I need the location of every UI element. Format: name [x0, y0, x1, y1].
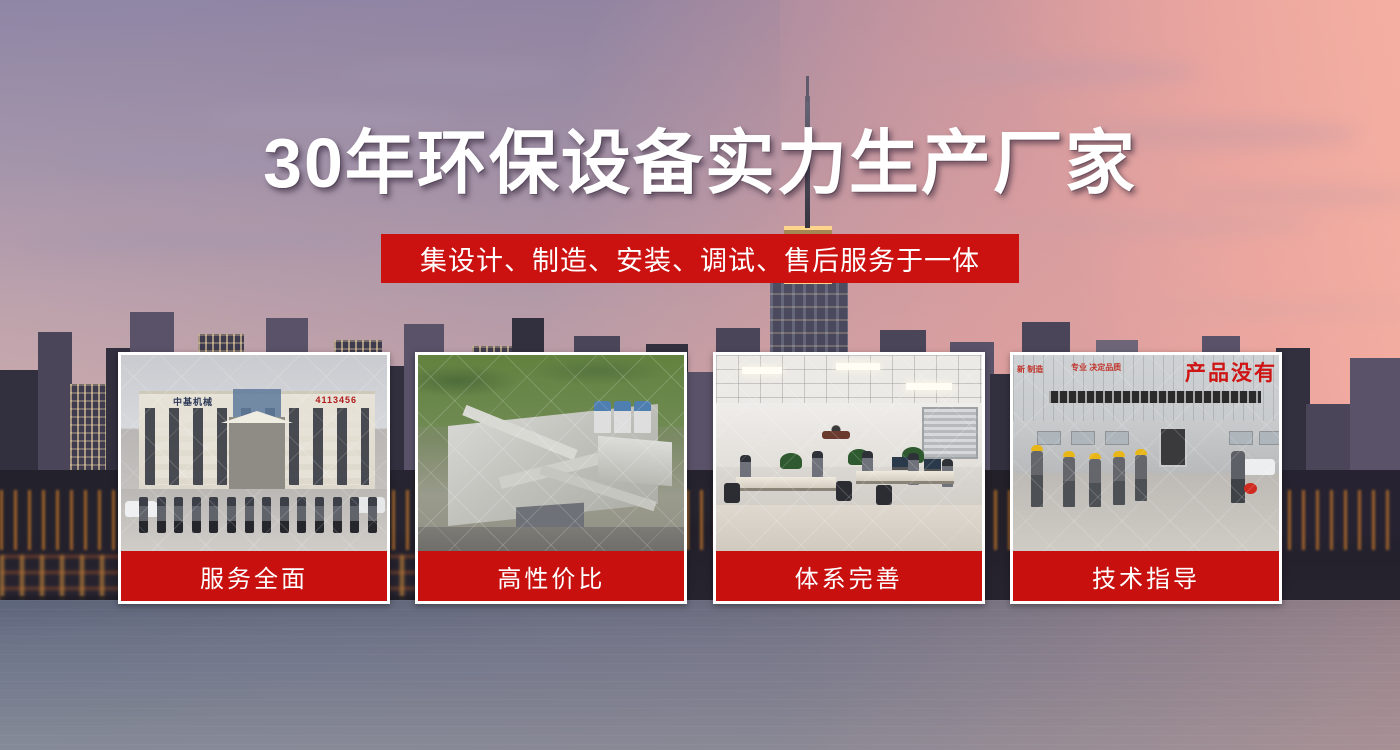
promotional-banner: 30年环保设备实力生产厂家 集设计、制造、安装、调试、售后服务于一体 中基机械 … — [0, 0, 1400, 750]
feature-card[interactable]: 中基机械 4113456 服务全面 — [118, 352, 390, 604]
feature-card[interactable]: 体系完善 — [713, 352, 985, 604]
card-photo-office — [716, 355, 982, 557]
building-phone: 4113456 — [315, 395, 357, 405]
card-caption: 高性价比 — [418, 551, 684, 601]
card-caption: 体系完善 — [716, 551, 982, 601]
cloud — [980, 215, 1320, 235]
subtitle-text: 集设计、制造、安装、调试、售后服务于一体 — [420, 239, 980, 278]
card-caption: 服务全面 — [121, 551, 387, 601]
building-signage: 中基机械 — [173, 395, 213, 408]
cloud — [340, 62, 570, 84]
card-photo-headquarters: 中基机械 4113456 — [121, 355, 387, 557]
wall-slogan-left: 新 制造 — [1017, 365, 1043, 375]
feature-card[interactable]: 新 制造 专业 决定品质 产品没有 — [1010, 352, 1282, 604]
page-title: 30年环保设备实力生产厂家 — [0, 128, 1400, 198]
card-photo-plant — [418, 355, 684, 557]
feature-card[interactable]: 高性价比 — [415, 352, 687, 604]
feature-card-row: 中基机械 4113456 服务全面 — [118, 352, 1282, 604]
subtitle-bar: 集设计、制造、安装、调试、售后服务于一体 — [381, 234, 1019, 283]
card-caption: 技术指导 — [1013, 551, 1279, 601]
card-photo-factory: 新 制造 专业 决定品质 产品没有 — [1013, 355, 1279, 557]
wall-banner-text: 产品没有 — [1185, 357, 1277, 387]
cloud — [900, 60, 1200, 84]
wall-slogan-right: 专业 决定品质 — [1071, 363, 1121, 373]
